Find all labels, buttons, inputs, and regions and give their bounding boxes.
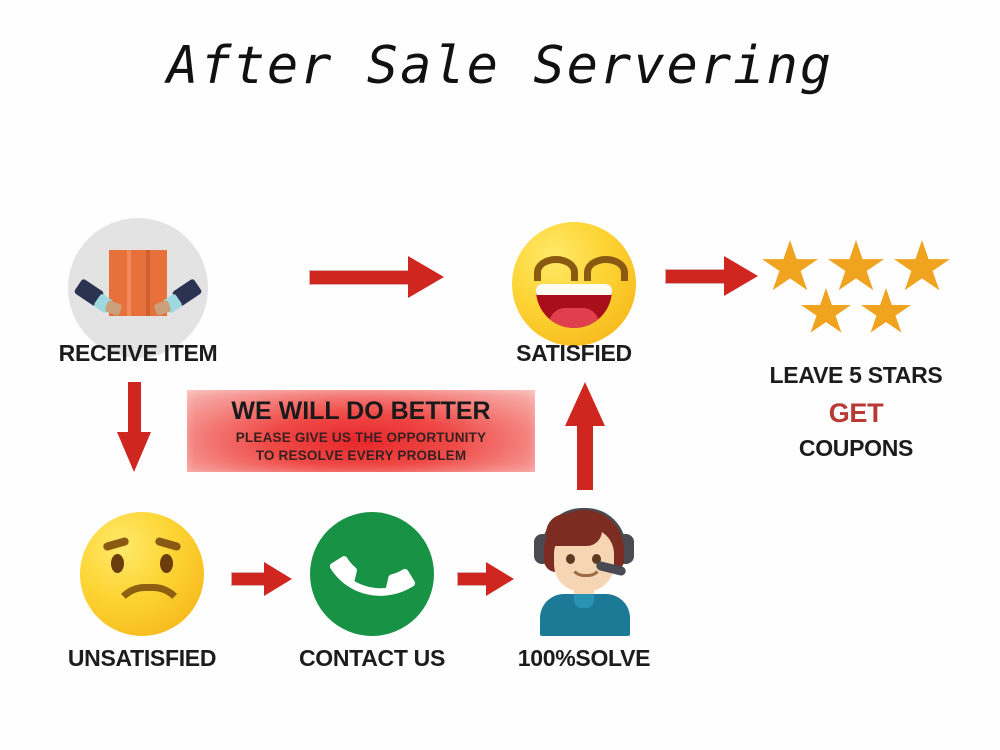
left-eye-icon (534, 256, 578, 281)
arrow-unsatisfied-to-contact (232, 562, 292, 596)
left-hand-icon (76, 284, 124, 314)
arrow-satisfied-to-stars (666, 256, 758, 296)
we-will-do-better-banner: WE WILL DO BETTER PLEASE GIVE US THE OPP… (187, 390, 535, 472)
frown-mouth-icon (111, 584, 187, 625)
unsatisfied-face-icon (80, 512, 204, 636)
satisfied-label: SATISFIED (474, 340, 674, 367)
receive-item-icon (68, 218, 208, 358)
arrow-receive-to-satisfied (310, 256, 444, 298)
right-eyebrow-icon (154, 537, 181, 552)
phone-handset-icon (313, 515, 432, 634)
laughing-mouth-icon (536, 284, 612, 328)
solve-label: 100%SOLVE (484, 645, 684, 672)
star-icon (762, 240, 818, 294)
contact-us-label: CONTACT US (272, 645, 472, 672)
banner-subline-2: TO RESOLVE EVERY PROBLEM (256, 447, 467, 465)
unsatisfied-label: UNSATISFIED (42, 645, 242, 672)
headset-agent-icon (518, 508, 650, 636)
right-eye-icon (584, 256, 628, 281)
star-icon (801, 288, 851, 336)
satisfied-face-icon (512, 222, 636, 346)
star-icon (828, 240, 884, 294)
left-eyebrow-icon (102, 537, 129, 552)
page-title: After Sale Servering (0, 36, 1000, 96)
leave-5-stars-label: LEAVE 5 STARS (746, 362, 966, 389)
right-eye-icon (160, 554, 173, 573)
star-icon (894, 240, 950, 294)
left-eye-icon (111, 554, 124, 573)
get-label: GET (746, 398, 966, 429)
coupons-label: COUPONS (746, 435, 966, 462)
banner-headline: WE WILL DO BETTER (231, 397, 490, 426)
right-hand-icon (152, 284, 200, 314)
five-stars-icon (756, 240, 956, 336)
fringe-icon (546, 514, 602, 546)
after-sale-service-infographic: After Sale Servering RECEIVE ITEM (0, 0, 1000, 750)
arrow-contact-to-solve (458, 562, 514, 596)
banner-subline-1: PLEASE GIVE US THE OPPORTUNITY (236, 429, 487, 447)
receive-item-label: RECEIVE ITEM (38, 340, 238, 367)
collar-icon (574, 594, 594, 608)
arrow-receive-to-unsatisfied (117, 382, 151, 472)
arrow-solve-to-satisfied (565, 382, 605, 490)
star-icon (861, 288, 911, 336)
contact-us-icon (310, 512, 434, 636)
